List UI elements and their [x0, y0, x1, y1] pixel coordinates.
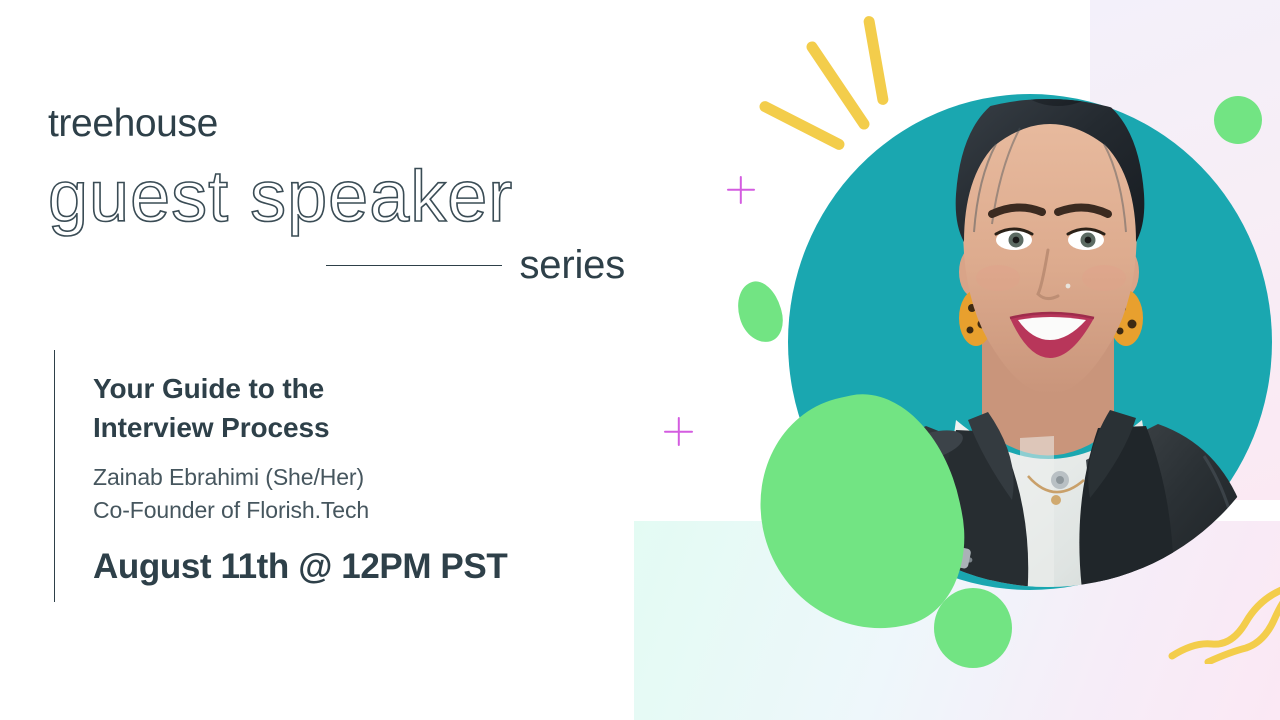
talk-title-line-1: Your Guide to the	[93, 373, 324, 404]
promo-slide: treehouse guest speaker series Your Guid…	[0, 0, 1280, 720]
speaker-role: Co-Founder of Florish.Tech	[93, 494, 507, 527]
headline-block: treehouse guest speaker series	[48, 104, 648, 285]
brand-name: treehouse	[48, 104, 648, 143]
plus-mark-icon-upper	[727, 176, 755, 204]
series-divider-rule	[326, 265, 502, 267]
speaker-name: Zainab Ebrahimi (She/Her)	[93, 461, 507, 494]
talk-title: Your Guide to the Interview Process	[93, 370, 507, 447]
event-detail-block: Your Guide to the Interview Process Zain…	[54, 350, 507, 602]
green-circle-bottom	[934, 588, 1012, 668]
event-datetime: August 11th @ 12PM PST	[93, 549, 507, 584]
plus-mark-icon-lower	[664, 417, 693, 446]
green-blob-small	[731, 276, 788, 347]
series-suffix: series	[520, 245, 626, 285]
wavy-line-icon-group	[1168, 582, 1280, 664]
series-title-outline: guest speaker	[48, 159, 648, 235]
series-suffix-row: series	[48, 245, 625, 285]
talk-title-line-2: Interview Process	[93, 412, 329, 443]
